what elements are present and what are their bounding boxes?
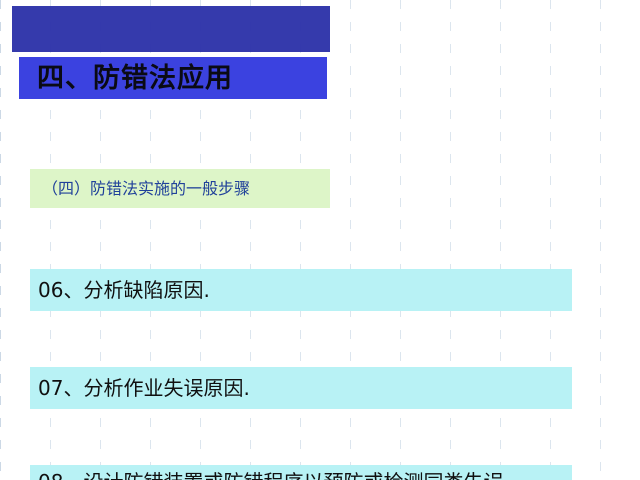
page-title: 四、防错法应用: [37, 65, 233, 92]
list-item-text: 06、分析缺陷原因.: [38, 277, 210, 304]
list-item-text: 07、分析作业失误原因.: [38, 375, 250, 402]
list-item: 07、分析作业失误原因.: [30, 367, 572, 409]
list-item: 06、分析缺陷原因.: [30, 269, 572, 311]
subtitle-text: （四）防错法实施的一般步骤: [42, 181, 250, 197]
list-item: 08、设计防错装置或防错程序以预防或检测同类失误.: [30, 465, 572, 480]
title-bar-shadow: [12, 6, 330, 52]
title-bar: 四、防错法应用: [18, 56, 328, 100]
subtitle-box: （四）防错法实施的一般步骤: [30, 169, 330, 208]
slide-canvas: 四、防错法应用 （四）防错法实施的一般步骤 06、分析缺陷原因. 07、分析作业…: [0, 0, 640, 480]
list-item-text: 08、设计防错装置或防错程序以预防或检测同类失误.: [38, 469, 510, 480]
